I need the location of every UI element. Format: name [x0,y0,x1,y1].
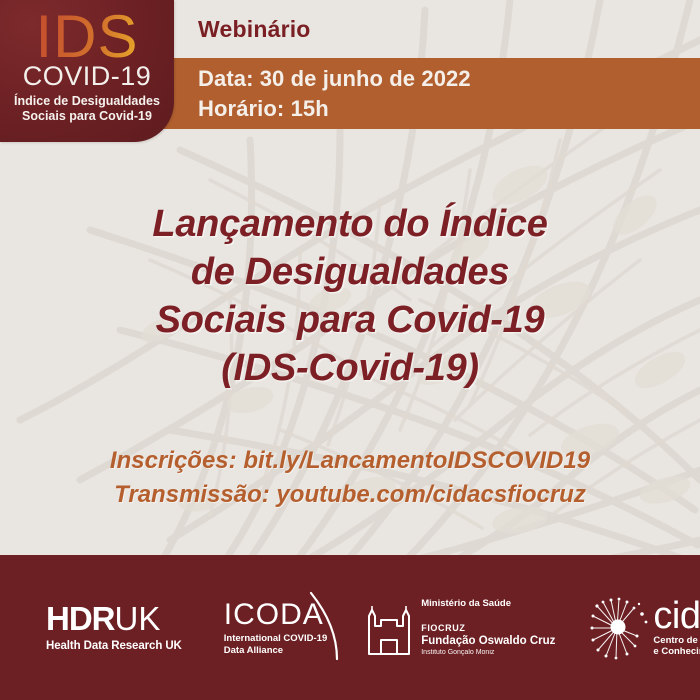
cidacs-text: cidacs Centro de Integração de Dados e C… [653,598,700,658]
ministry-label: Ministério da Saúde [421,598,555,610]
registration-links: Inscrições: bit.ly/LancamentoIDSCOVID19 … [0,444,700,512]
logo-cidacs: cidacs Centro de Integração de Dados e C… [589,555,700,700]
logo-icoda: ICODA International COVID-19 Data Allian… [224,555,327,700]
fiocruz-inner: Ministério da Saúde FIOCRUZ Fundação Osw… [365,598,555,657]
title-line-4: (IDS-Covid-19) [40,344,660,392]
fiocruz-institute: Instituto Gonçalo Moniz [421,648,555,657]
cidacs-inner: cidacs Centro de Integração de Dados e C… [589,596,700,660]
hdruk-subtitle: Health Data Research UK [46,639,182,653]
event-time: Horário: 15h [198,94,700,124]
fiocruz-name: FIOCRUZ [421,623,555,634]
fiocruz-full-name: Fundação Oswaldo Cruz [421,634,555,648]
cidacs-subtitle-line-1: Centro de Integração de Dados [653,635,700,647]
hdruk-wordmark: HDRUK [46,602,182,636]
registration-link[interactable]: Inscrições: bit.ly/LancamentoIDSCOVID19 [0,444,700,478]
broadcast-link[interactable]: Transmissão: youtube.com/cidacsfiocruz [0,478,700,512]
title-line-1: Lançamento do Índice [40,200,660,248]
ids-wordmark: IDS [0,6,174,68]
webinar-label-strip: Webinário [174,0,700,58]
logo-hdruk: HDRUK Health Data Research UK [46,555,182,700]
event-date: Data: 30 de junho de 2022 [198,64,700,94]
ids-logo-panel: IDS COVID-19 Índice de Desigualdades Soc… [0,0,174,142]
ids-subtitle-line-2: Sociais para Covid-19 [0,109,174,124]
ids-covid-line: COVID-19 [0,62,174,90]
cidacs-subtitle-line-2: e Conhecimentos para Saúde [653,646,700,658]
cidacs-subtitle: Centro de Integração de Dados e Conhecim… [653,635,700,658]
title-line-2: de Desigualdades [40,248,660,296]
event-datetime-band: Data: 30 de junho de 2022 Horário: 15h [158,58,700,129]
footer-logo-bar: HDRUK Health Data Research UK ICODA Inte… [0,555,700,700]
icoda-stack: ICODA International COVID-19 Data Allian… [224,599,327,656]
ids-subtitle: Índice de Desigualdades Sociais para Cov… [0,94,174,124]
cidacs-dandelion-icon [589,596,649,660]
hdruk-stack: HDRUK Health Data Research UK [46,602,182,653]
page-title: Lançamento do Índice de Desigualdades So… [0,200,700,392]
title-line-3: Sociais para Covid-19 [40,296,660,344]
hdruk-bold-part: HDR [46,600,115,637]
cidacs-wordmark: cidacs [653,598,700,634]
ids-subtitle-line-1: Índice de Desigualdades [0,94,174,109]
event-poster: IDS COVID-19 Índice de Desigualdades Soc… [0,0,700,700]
castelo-mourisco-icon [365,600,413,656]
logo-fiocruz: Ministério da Saúde FIOCRUZ Fundação Osw… [365,555,555,700]
icoda-swoosh-icon [307,591,341,661]
fiocruz-text: Ministério da Saúde FIOCRUZ Fundação Osw… [421,598,555,657]
hdruk-light-part: UK [115,600,161,637]
webinar-label-text: Webinário [198,16,311,43]
